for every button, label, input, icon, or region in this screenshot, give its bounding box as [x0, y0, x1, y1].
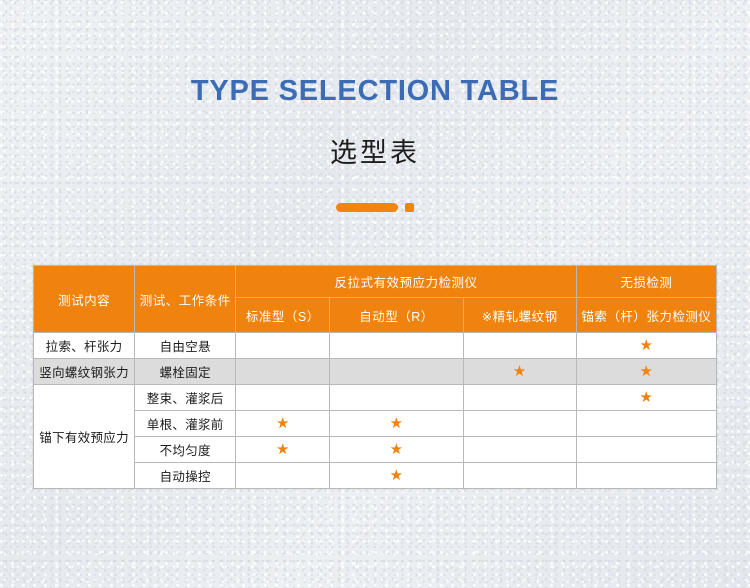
star-icon: ★ [640, 364, 654, 379]
table-header-row-group: 测试内容 测试、工作条件 反拉式有效预应力检测仪 无损检测 [34, 266, 717, 298]
table-cell-mark-star: ★ [330, 437, 463, 463]
table-cell-mark-star: ★ [330, 463, 463, 489]
page-header: TYPE SELECTION TABLE 选型表 [0, 0, 750, 212]
table-cell-mark-empty [330, 333, 463, 359]
table-cell-mark-empty [576, 437, 716, 463]
table-cell-condition: 螺栓固定 [135, 359, 236, 385]
table-head: 测试内容 测试、工作条件 反拉式有效预应力检测仪 无损检测 标准型（S） 自动型… [34, 266, 717, 333]
header-sub-rebar: ※精轧螺纹钢 [463, 298, 576, 333]
star-icon: ★ [276, 442, 290, 457]
table-cell-condition: 单根、灌浆前 [135, 411, 236, 437]
table-row: 单根、灌浆前★★ [34, 411, 717, 437]
selection-table-wrapper: 测试内容 测试、工作条件 反拉式有效预应力检测仪 无损检测 标准型（S） 自动型… [33, 265, 717, 489]
header-sub-anchor: 锚索（杆）张力检测仪 [576, 298, 716, 333]
table-cell-mark-empty [576, 411, 716, 437]
table-cell-condition: 不均匀度 [135, 437, 236, 463]
decorative-divider [0, 203, 750, 212]
type-selection-table: 测试内容 测试、工作条件 反拉式有效预应力检测仪 无损检测 标准型（S） 自动型… [33, 265, 717, 489]
table-cell-mark-star: ★ [330, 411, 463, 437]
table-cell-mark-star: ★ [576, 359, 716, 385]
header-sub-automatic: 自动型（R） [330, 298, 463, 333]
table-cell-mark-empty [236, 385, 330, 411]
table-row: 自动操控★ [34, 463, 717, 489]
star-icon: ★ [390, 468, 404, 483]
table-cell-category: 拉索、杆张力 [34, 333, 135, 359]
table-cell-mark-star: ★ [236, 437, 330, 463]
divider-dot-icon [405, 203, 414, 212]
table-row: 竖向螺纹钢张力螺栓固定★★ [34, 359, 717, 385]
page-title-english: TYPE SELECTION TABLE [0, 0, 750, 108]
table-cell-mark-star: ★ [463, 359, 576, 385]
table-cell-mark-empty [463, 411, 576, 437]
table-row: 不均匀度★★ [34, 437, 717, 463]
star-icon: ★ [390, 416, 404, 431]
header-group-nondestructive: 无损检测 [576, 266, 716, 298]
page-root: TYPE SELECTION TABLE 选型表 测试内容 测试、工作条件 反拉… [0, 0, 750, 588]
table-cell-condition: 自动操控 [135, 463, 236, 489]
star-icon: ★ [640, 338, 654, 353]
table-cell-condition: 自由空悬 [135, 333, 236, 359]
table-cell-mark-empty [236, 359, 330, 385]
table-cell-mark-star: ★ [576, 333, 716, 359]
page-title-chinese: 选型表 [0, 108, 750, 169]
star-icon: ★ [276, 416, 290, 431]
table-cell-mark-empty [463, 385, 576, 411]
header-sub-standard: 标准型（S） [236, 298, 330, 333]
table-body: 拉索、杆张力自由空悬★竖向螺纹钢张力螺栓固定★★锚下有效预应力整束、灌浆后★单根… [34, 333, 717, 489]
header-test-content: 测试内容 [34, 266, 135, 333]
table-cell-mark-empty [463, 437, 576, 463]
table-cell-mark-empty [236, 333, 330, 359]
table-cell-mark-star: ★ [576, 385, 716, 411]
table-cell-mark-empty [463, 463, 576, 489]
header-test-condition: 测试、工作条件 [135, 266, 236, 333]
table-cell-mark-empty [236, 463, 330, 489]
table-cell-category: 锚下有效预应力 [34, 385, 135, 489]
table-row: 拉索、杆张力自由空悬★ [34, 333, 717, 359]
table-cell-mark-empty [330, 359, 463, 385]
star-icon: ★ [390, 442, 404, 457]
table-cell-mark-empty [463, 333, 576, 359]
table-cell-condition: 整束、灌浆后 [135, 385, 236, 411]
table-row: 锚下有效预应力整束、灌浆后★ [34, 385, 717, 411]
star-icon: ★ [640, 390, 654, 405]
star-icon: ★ [513, 364, 527, 379]
table-cell-mark-empty [576, 463, 716, 489]
table-cell-mark-empty [330, 385, 463, 411]
table-cell-mark-star: ★ [236, 411, 330, 437]
header-group-reverse-pull: 反拉式有效预应力检测仪 [236, 266, 576, 298]
divider-bar-icon [336, 203, 398, 212]
table-cell-category: 竖向螺纹钢张力 [34, 359, 135, 385]
